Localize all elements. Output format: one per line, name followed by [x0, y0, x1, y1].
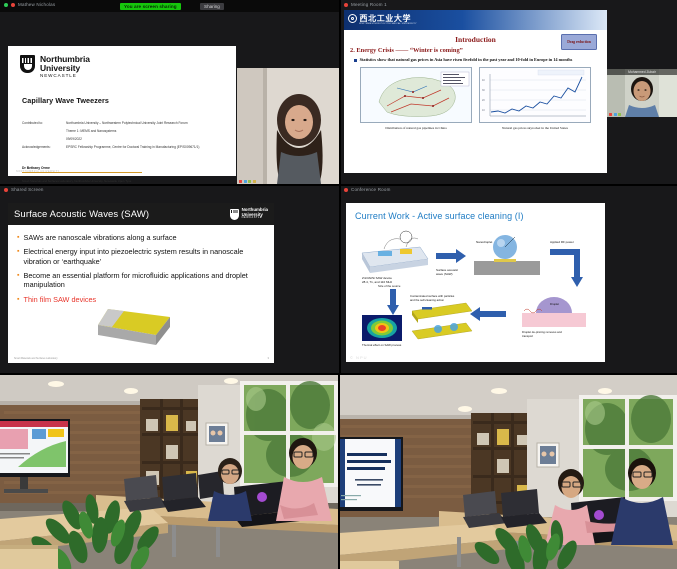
meta-row: 09/09/2022 — [22, 137, 236, 142]
panel-middle-right[interactable]: Conference Room Current Work - Active su… — [340, 185, 677, 373]
slide-footer: Smart Materials and Surfaces Laboratory — [14, 357, 58, 360]
slide-footer: NORTHUMBRIA UNIVERSITY — [16, 170, 60, 173]
meta-key: Contributed to: — [22, 121, 66, 126]
connected-icon — [4, 3, 8, 7]
slide-introduction-energy-crisis: 西北工业大学 NORTHWESTERN POLYTECHNICAL UNIVER… — [344, 10, 607, 173]
workflow-diagram: ZnO/Al/Si SAW device 28.4, 71, and 110 M… — [354, 227, 599, 348]
meta-key: Acknowledgements: — [22, 145, 66, 150]
panel-room-camera-right[interactable] — [339, 375, 677, 569]
bullet-text: Statistics show that natural gas prices … — [360, 57, 573, 63]
svg-text:wave (SAW): wave (SAW) — [436, 272, 453, 276]
slide-bullet: Statistics show that natural gas prices … — [354, 57, 599, 63]
bullet-item: ▪Become an essential platform for microf… — [17, 271, 264, 290]
panel-label-bottom-left: Shared Screen — [11, 187, 44, 192]
middle-left-indicators: Shared Screen — [4, 187, 44, 192]
divider-horizontal-right — [340, 184, 677, 186]
record-icon — [344, 188, 348, 192]
meta-row: Contributed to:Northumbria University – … — [22, 121, 236, 126]
meta-row: Theme 1: MEMS and Nanosystems — [22, 129, 236, 134]
university-line3: NEWCASTLE — [40, 74, 90, 79]
figure-china-pipelines: Distribution of natural gas pipelines in… — [360, 67, 472, 130]
bullet-item: ▪SAWs are nanoscale vibrations along a s… — [17, 233, 264, 242]
shield-icon — [20, 55, 35, 73]
figure-caption: Natural gas prices skyrocket in the Unit… — [479, 126, 591, 130]
northumbria-logo: Northumbria University NEWCASTLE — [230, 208, 268, 220]
slide-surface-acoustic-waves: Surface Acoustic Waves (SAW) Northumbria… — [8, 203, 274, 363]
divider-vertical-top — [339, 0, 341, 373]
meta-key — [22, 129, 66, 134]
record-icon — [344, 3, 348, 7]
figure-image — [360, 67, 472, 123]
bullet-icon: ▪ — [17, 248, 19, 266]
university-line3: NEWCASTLE — [242, 217, 268, 220]
svg-text:Nanodroplet: Nanodroplet — [476, 240, 493, 244]
bullet-text: Thin film SAW devices — [23, 295, 96, 304]
npu-logo-english: NORTHWESTERN POLYTECHNICAL UNIVERSITY — [359, 23, 417, 25]
conference-grid-app: Mathew Nicholas You are screen sharing S… — [0, 0, 677, 569]
slide-header: Surface Acoustic Waves (SAW) Northumbria… — [8, 203, 274, 225]
panel-label-top-right: Meeting Room 1 — [351, 2, 387, 7]
svg-text:Size of the source: Size of the source — [378, 284, 401, 288]
screen-share-status-bar: Mathew Nicholas You are screen sharing S… — [0, 0, 339, 12]
tile-name-2: Mohammed Zubair — [607, 69, 677, 75]
bullet-text: Become an essential platform for microfl… — [23, 271, 264, 290]
slide-meta-rows: Contributed to:Northumbria University – … — [22, 121, 236, 149]
slide-page-number: 3 — [268, 357, 269, 360]
meta-value: Theme 1: MEMS and Nanosystems — [66, 129, 236, 134]
slide-title: Current Work - Active surface cleaning (… — [355, 211, 605, 221]
figure-us-gas-prices: 40302010 Natural gas prices skyrocket in… — [479, 67, 591, 130]
meta-value: EPSRC Fellowship Programme, Centre for D… — [66, 145, 236, 150]
bullet-text: Electrical energy input into piezoelectr… — [23, 247, 264, 266]
svg-text:Droplet: Droplet — [550, 302, 559, 306]
participant-tile-2[interactable]: Mohammed Zubair — [607, 69, 677, 117]
slide-title: Surface Acoustic Waves (SAW) — [14, 209, 149, 220]
divider-horizontal-left — [0, 184, 339, 186]
shield-icon — [230, 209, 239, 220]
mic-icon[interactable] — [609, 113, 612, 116]
saw-device-illustration — [94, 305, 178, 345]
seal-icon — [348, 14, 357, 23]
slide-current-work: Current Work - Active surface cleaning (… — [346, 203, 605, 362]
divider-vertical-bottom — [338, 373, 340, 569]
slide-capillary-wave-tweezers: Northumbria University NEWCASTLE Capilla… — [8, 46, 236, 176]
npu-header-band: 西北工业大学 NORTHWESTERN POLYTECHNICAL UNIVER… — [344, 10, 607, 30]
svg-text:and the self-cleaning action: and the self-cleaning action — [410, 298, 444, 302]
svg-text:Thermal effect on SAW process: Thermal effect on SAW process — [362, 343, 402, 347]
slide-watermark: © NPU — [350, 355, 368, 360]
meta-value: Northumbria University – Northwestern Po… — [66, 121, 236, 126]
record-icon — [4, 188, 8, 192]
bullet-item-highlight: ▪Thin film SAW devices — [17, 295, 264, 304]
record-icon — [11, 3, 15, 7]
presenter-affiliation: Smart Materials and Surfaces Laboratory,… — [22, 179, 236, 183]
room-video-left — [0, 375, 338, 569]
meta-key — [22, 137, 66, 142]
panel-label-bottom-right: Conference Room — [351, 187, 391, 192]
bullet-icon: ▪ — [17, 234, 19, 242]
tile-controls-1[interactable] — [239, 180, 256, 183]
cam-icon[interactable] — [614, 113, 617, 116]
top-right-indicators: Meeting Room 1 — [344, 2, 387, 7]
svg-text:transport: transport — [522, 334, 533, 338]
panel-top-left[interactable]: Northumbria University NEWCASTLE Capilla… — [0, 12, 339, 184]
bullet-icon: ▪ — [17, 272, 19, 290]
cam-icon[interactable] — [244, 180, 247, 183]
bullet-item: ▪Electrical energy input into piezoelect… — [17, 247, 264, 266]
bullet-text: SAWs are nanoscale vibrations along a su… — [23, 233, 176, 242]
drag-reduction-badge: Drag reduction — [561, 34, 597, 50]
slide-title: Capillary Wave Tweezers — [22, 96, 236, 105]
more-icon[interactable] — [253, 180, 256, 183]
bullet-square-icon — [354, 59, 357, 62]
middle-right-indicators: Conference Room — [344, 187, 391, 192]
slide-figures: Distribution of natural gas pipelines in… — [344, 67, 607, 130]
svg-text:Applied RF power: Applied RF power — [550, 240, 574, 244]
share-menu-button[interactable]: Sharing — [200, 3, 224, 10]
panel-middle-left[interactable]: Shared Screen Surface Acoustic Waves (SA… — [0, 185, 339, 373]
share-icon[interactable] — [618, 113, 621, 116]
meta-row: Acknowledgements:EPSRC Fellowship Progra… — [22, 145, 236, 150]
university-line2: University — [40, 64, 90, 73]
screen-share-pill[interactable]: You are screen sharing — [120, 3, 181, 10]
figure-image: 40302010 — [479, 67, 591, 123]
tile-controls-2[interactable] — [609, 113, 621, 116]
slide-bullet-list: ▪SAWs are nanoscale vibrations along a s… — [8, 225, 274, 304]
bullet-icon: ▪ — [17, 296, 19, 304]
meta-value: 09/09/2022 — [66, 137, 236, 142]
figure-caption: Distribution of natural gas pipelines in… — [360, 126, 472, 130]
panel-room-camera-left[interactable] — [0, 375, 338, 569]
participant-tile-1[interactable] — [237, 68, 339, 184]
top-left-indicators: Mathew Nicholas — [4, 2, 55, 7]
panel-top-right[interactable]: Meeting Room 1 西北工业大学 NORTHWESTERN POLYT… — [340, 0, 677, 184]
share-icon[interactable] — [248, 180, 251, 183]
participant-video-2 — [607, 69, 677, 117]
mic-icon[interactable] — [239, 180, 242, 183]
room-video-right — [339, 375, 677, 569]
northumbria-logo: Northumbria University NEWCASTLE — [8, 46, 236, 79]
participant-video-1 — [237, 68, 339, 184]
panel-label-top-left: Mathew Nicholas — [18, 2, 55, 7]
